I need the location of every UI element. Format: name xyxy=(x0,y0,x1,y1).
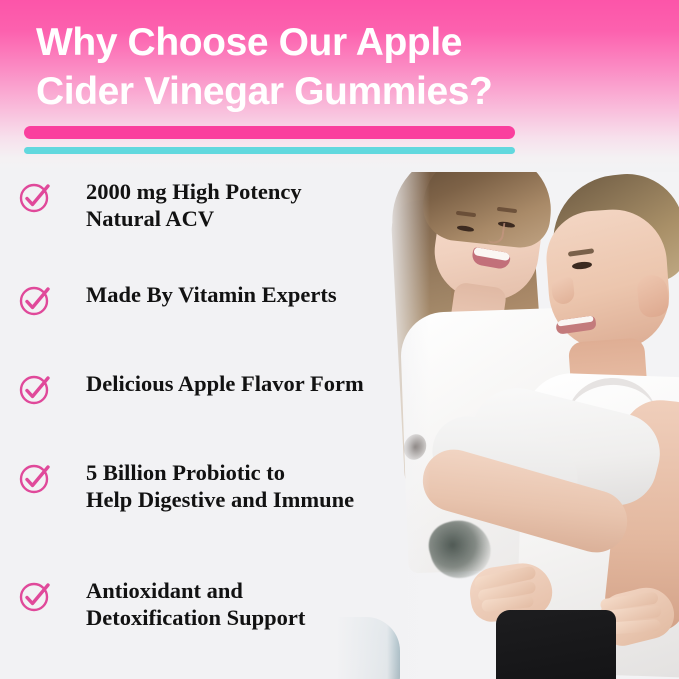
check-circle-icon xyxy=(18,180,52,214)
benefit-line: Antioxidant and xyxy=(86,578,243,603)
benefit-item-flavor: Delicious Apple Flavor Form xyxy=(18,370,366,406)
finger xyxy=(610,619,661,634)
check-circle-icon xyxy=(18,461,52,495)
benefit-line: Made By Vitamin Experts xyxy=(86,282,337,307)
benefit-line: 5 Billion Probiotic to xyxy=(86,460,285,485)
check-circle-icon xyxy=(18,372,52,406)
benefit-line: Delicious Apple Flavor Form xyxy=(86,371,364,396)
benefit-text: 2000 mg High Potency Natural ACV xyxy=(86,178,304,232)
check-circle-icon xyxy=(18,283,52,317)
benefit-text: 5 Billion Probiotic to Help Digestive an… xyxy=(86,459,356,513)
dark-clothing xyxy=(496,610,616,679)
divider-bar-teal xyxy=(24,147,515,154)
benefit-item-antioxidant: Antioxidant and Detoxification Support xyxy=(18,577,307,631)
benefit-item-probiotic: 5 Billion Probiotic to Help Digestive an… xyxy=(18,459,356,513)
page-title: Why Choose Our Apple Cider Vinegar Gummi… xyxy=(36,18,596,116)
benefit-text: Made By Vitamin Experts xyxy=(86,281,339,308)
divider-bar-pink xyxy=(24,126,515,139)
check-circle-icon xyxy=(18,579,52,613)
title-line-2: Cider Vinegar Gummies? xyxy=(36,67,596,116)
benefit-text: Delicious Apple Flavor Form xyxy=(86,370,366,397)
benefit-line: Detoxification Support xyxy=(86,605,305,630)
title-line-1: Why Choose Our Apple xyxy=(36,18,596,67)
benefit-line: 2000 mg High Potency xyxy=(86,179,302,204)
benefit-item-experts: Made By Vitamin Experts xyxy=(18,281,339,317)
benefit-item-potency: 2000 mg High Potency Natural ACV xyxy=(18,178,304,232)
benefit-line: Natural ACV xyxy=(86,206,214,231)
benefit-line: Help Digestive and Immune xyxy=(86,487,354,512)
product-benefits-poster: Why Choose Our Apple Cider Vinegar Gummi… xyxy=(0,0,679,679)
benefit-text: Antioxidant and Detoxification Support xyxy=(86,577,307,631)
